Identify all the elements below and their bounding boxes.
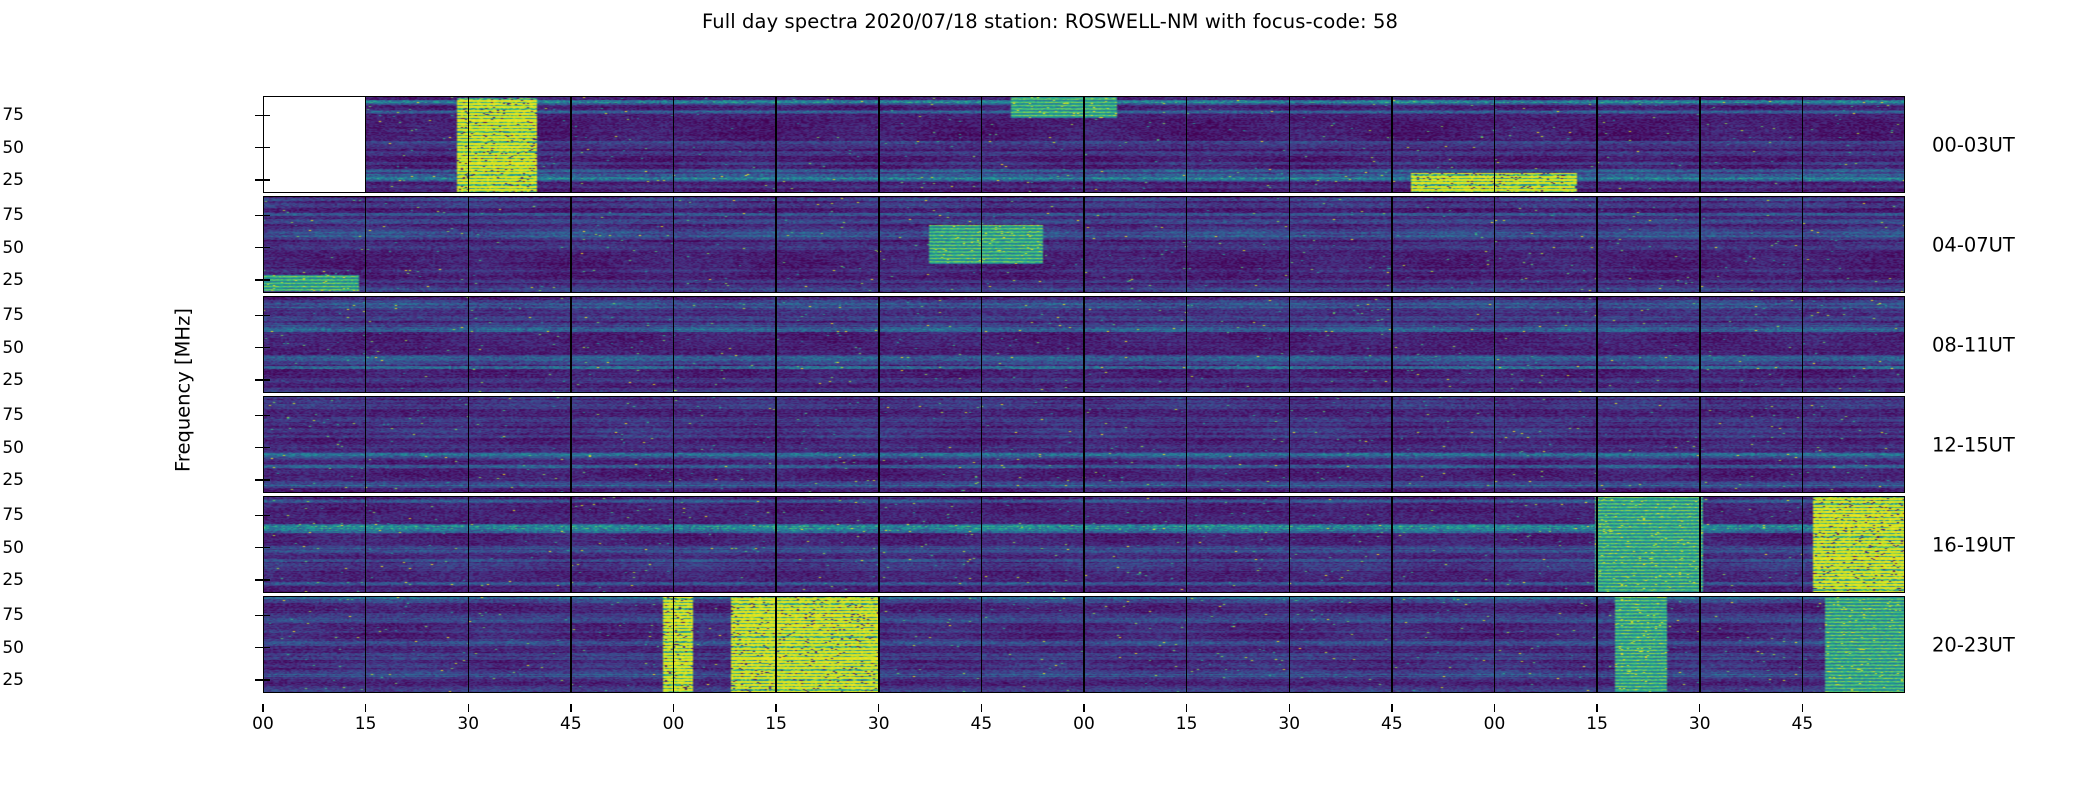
x-tick-label: 00 <box>1073 714 1095 734</box>
y-tick-mark <box>255 615 263 616</box>
panel-separator <box>1289 496 1291 593</box>
panel-separator <box>1802 496 1804 593</box>
y-tick-mark <box>255 379 263 380</box>
y-tick-label: 25 <box>2 470 24 490</box>
panel-separator <box>1186 196 1188 293</box>
panel-separator <box>1083 596 1085 693</box>
x-tick-mark <box>365 704 366 712</box>
y-tick-mark <box>255 347 263 348</box>
panel-separator <box>1083 296 1085 393</box>
panel-separator <box>365 496 367 593</box>
y-tick-mark-inner <box>263 415 270 416</box>
panel-separator <box>1186 96 1188 193</box>
panel-separator <box>570 196 572 293</box>
y-tick-mark-inner <box>263 179 270 180</box>
y-tick-label: 50 <box>2 638 24 658</box>
panel-separator <box>1699 496 1701 593</box>
x-tick-mark <box>1083 704 1084 712</box>
panel-separator <box>365 596 367 693</box>
panel-separator <box>981 196 983 293</box>
y-tick-label: 25 <box>2 370 24 390</box>
y-tick-mark <box>255 179 263 180</box>
panel-separator <box>1083 396 1085 493</box>
y-tick-mark <box>255 415 263 416</box>
x-tick-mark <box>981 704 982 712</box>
panel-separator <box>1391 296 1393 393</box>
x-tick-mark <box>262 704 263 712</box>
panel-separator <box>1186 296 1188 393</box>
panel-separator <box>570 496 572 593</box>
x-tick-mark <box>775 704 776 712</box>
y-axis-label: Frequency [MHz] <box>172 308 195 472</box>
figure-title: Full day spectra 2020/07/18 station: ROS… <box>0 10 2100 33</box>
panel-separator <box>1289 396 1291 493</box>
y-tick-label: 75 <box>2 205 24 225</box>
y-tick-label: 25 <box>2 570 24 590</box>
panel-separator <box>1802 596 1804 693</box>
panel-separator <box>981 96 983 193</box>
panel-separator <box>468 96 470 193</box>
x-tick-label: 45 <box>1381 714 1403 734</box>
x-tick-label: 15 <box>765 714 787 734</box>
y-tick-mark <box>255 315 263 316</box>
spectrogram-row-2[interactable] <box>263 296 1905 393</box>
y-tick-label: 25 <box>2 170 24 190</box>
y-tick-mark-inner <box>263 515 270 516</box>
panel-separator <box>1596 296 1598 393</box>
panel-separator <box>775 496 777 593</box>
y-tick-mark <box>255 547 263 548</box>
panel-separator <box>1596 196 1598 293</box>
panel-separator <box>673 396 675 493</box>
row-label-12-15ut: 12-15UT <box>1932 433 2015 456</box>
panel-separator <box>878 496 880 593</box>
panel-separator <box>1596 96 1598 193</box>
y-tick-mark-inner <box>263 347 270 348</box>
panel-separator <box>878 596 880 693</box>
x-tick-label: 30 <box>457 714 479 734</box>
spectrogram-row-4[interactable] <box>263 496 1905 593</box>
x-tick-label: 00 <box>1484 714 1506 734</box>
y-tick-label: 50 <box>2 138 24 158</box>
panel-separator <box>1186 396 1188 493</box>
panel-separator <box>1391 196 1393 293</box>
panel-separator <box>981 296 983 393</box>
row-label-08-11ut: 08-11UT <box>1932 333 2015 356</box>
x-tick-label: 30 <box>1689 714 1711 734</box>
panel-separator <box>1699 96 1701 193</box>
panel-separator <box>1186 596 1188 693</box>
panel-separator <box>1289 96 1291 193</box>
panel-separator <box>878 96 880 193</box>
x-tick-mark <box>1699 704 1700 712</box>
x-tick-mark <box>468 704 469 712</box>
panel-separator <box>570 296 572 393</box>
panel-separator <box>775 196 777 293</box>
y-tick-mark-inner <box>263 679 270 680</box>
x-tick-mark <box>878 704 879 712</box>
y-tick-mark <box>255 515 263 516</box>
panel-separator <box>468 396 470 493</box>
panel-separator <box>673 296 675 393</box>
y-tick-label: 25 <box>2 270 24 290</box>
x-tick-mark <box>1802 704 1803 712</box>
panel-separator <box>1083 496 1085 593</box>
x-tick-mark <box>1186 704 1187 712</box>
panel-separator <box>1596 596 1598 693</box>
panel-separator <box>673 96 675 193</box>
panel-separator <box>1699 296 1701 393</box>
no-data-panel <box>263 96 366 193</box>
y-tick-label: 75 <box>2 505 24 525</box>
panel-separator <box>1391 496 1393 593</box>
y-tick-mark-inner <box>263 579 270 580</box>
y-tick-mark-inner <box>263 547 270 548</box>
y-tick-label: 50 <box>2 338 24 358</box>
x-tick-label: 45 <box>560 714 582 734</box>
y-tick-label: 25 <box>2 670 24 690</box>
y-tick-label: 75 <box>2 605 24 625</box>
panel-separator <box>1699 596 1701 693</box>
y-tick-mark <box>255 147 263 148</box>
y-tick-label: 75 <box>2 305 24 325</box>
panel-separator <box>365 196 367 293</box>
x-tick-label: 15 <box>355 714 377 734</box>
panel-separator <box>1802 196 1804 293</box>
x-tick-label: 00 <box>252 714 274 734</box>
panel-separator <box>981 496 983 593</box>
panel-separator <box>1596 396 1598 493</box>
panel-separator <box>775 396 777 493</box>
row-label-00-03ut: 00-03UT <box>1932 133 2015 156</box>
y-tick-label: 50 <box>2 238 24 258</box>
panel-separator <box>878 196 880 293</box>
panel-separator <box>468 196 470 293</box>
x-tick-label: 15 <box>1176 714 1198 734</box>
panel-separator <box>1802 296 1804 393</box>
panel-separator <box>365 296 367 393</box>
y-tick-mark-inner <box>263 447 270 448</box>
panel-separator <box>1596 496 1598 593</box>
row-label-20-23ut: 20-23UT <box>1932 633 2015 656</box>
x-tick-mark <box>1596 704 1597 712</box>
panel-separator <box>878 296 880 393</box>
y-tick-label: 50 <box>2 538 24 558</box>
panel-separator <box>468 296 470 393</box>
panel-separator <box>1289 296 1291 393</box>
y-tick-mark-inner <box>263 647 270 648</box>
y-tick-mark <box>255 679 263 680</box>
y-tick-mark <box>255 479 263 480</box>
panel-separator <box>775 596 777 693</box>
panel-separator <box>468 496 470 593</box>
y-tick-mark-inner <box>263 147 270 148</box>
y-tick-mark <box>255 447 263 448</box>
panel-separator <box>1494 396 1496 493</box>
x-tick-mark <box>570 704 571 712</box>
panel-separator <box>1494 496 1496 593</box>
panel-separator <box>365 396 367 493</box>
panel-separator <box>1391 396 1393 493</box>
y-tick-mark-inner <box>263 247 270 248</box>
panel-separator <box>878 396 880 493</box>
row-label-04-07ut: 04-07UT <box>1932 233 2015 256</box>
panel-separator <box>1083 96 1085 193</box>
y-tick-label: 75 <box>2 405 24 425</box>
spectrogram-figure: Full day spectra 2020/07/18 station: ROS… <box>0 0 2100 800</box>
x-tick-label: 30 <box>1278 714 1300 734</box>
y-tick-mark <box>255 647 263 648</box>
x-tick-label: 30 <box>868 714 890 734</box>
panel-separator <box>1186 496 1188 593</box>
y-tick-label: 50 <box>2 438 24 458</box>
x-tick-mark <box>1391 704 1392 712</box>
y-tick-mark <box>255 247 263 248</box>
panel-separator <box>1391 96 1393 193</box>
y-tick-mark-inner <box>263 279 270 280</box>
y-tick-mark-inner <box>263 379 270 380</box>
y-tick-mark-inner <box>263 215 270 216</box>
panel-separator <box>981 596 983 693</box>
panel-separator <box>1494 596 1496 693</box>
y-tick-mark <box>255 579 263 580</box>
y-tick-mark <box>255 215 263 216</box>
panel-separator <box>1391 596 1393 693</box>
panel-separator <box>775 296 777 393</box>
panel-separator <box>1699 196 1701 293</box>
x-tick-label: 00 <box>663 714 685 734</box>
y-tick-mark-inner <box>263 479 270 480</box>
spectrogram-row-3[interactable] <box>263 396 1905 493</box>
panel-separator <box>1289 596 1291 693</box>
panel-separator <box>570 96 572 193</box>
panel-separator <box>673 596 675 693</box>
panel-separator <box>1083 196 1085 293</box>
panel-separator <box>570 596 572 693</box>
y-tick-mark-inner <box>263 115 270 116</box>
x-tick-label: 45 <box>1792 714 1814 734</box>
spectrogram-row-0[interactable] <box>263 96 1905 193</box>
panel-separator <box>1494 96 1496 193</box>
y-tick-label: 75 <box>2 105 24 125</box>
spectrogram-row-5[interactable] <box>263 596 1905 693</box>
panel-separator <box>1699 396 1701 493</box>
panel-separator <box>468 596 470 693</box>
x-tick-mark <box>1494 704 1495 712</box>
panel-separator <box>1494 196 1496 293</box>
panel-separator <box>673 496 675 593</box>
panel-separator <box>365 96 367 193</box>
y-tick-mark-inner <box>263 315 270 316</box>
x-tick-label: 45 <box>971 714 993 734</box>
panel-separator <box>775 96 777 193</box>
spectrogram-row-1[interactable] <box>263 196 1905 293</box>
panel-separator <box>1494 296 1496 393</box>
panel-separator <box>1802 96 1804 193</box>
panel-separator <box>1802 396 1804 493</box>
x-tick-mark <box>673 704 674 712</box>
y-tick-mark-inner <box>263 615 270 616</box>
panel-separator <box>673 196 675 293</box>
panel-separator <box>570 396 572 493</box>
y-tick-mark <box>255 115 263 116</box>
row-label-16-19ut: 16-19UT <box>1932 533 2015 556</box>
panel-separator <box>981 396 983 493</box>
y-tick-mark <box>255 279 263 280</box>
x-tick-mark <box>1289 704 1290 712</box>
x-tick-label: 15 <box>1586 714 1608 734</box>
panel-separator <box>1289 196 1291 293</box>
